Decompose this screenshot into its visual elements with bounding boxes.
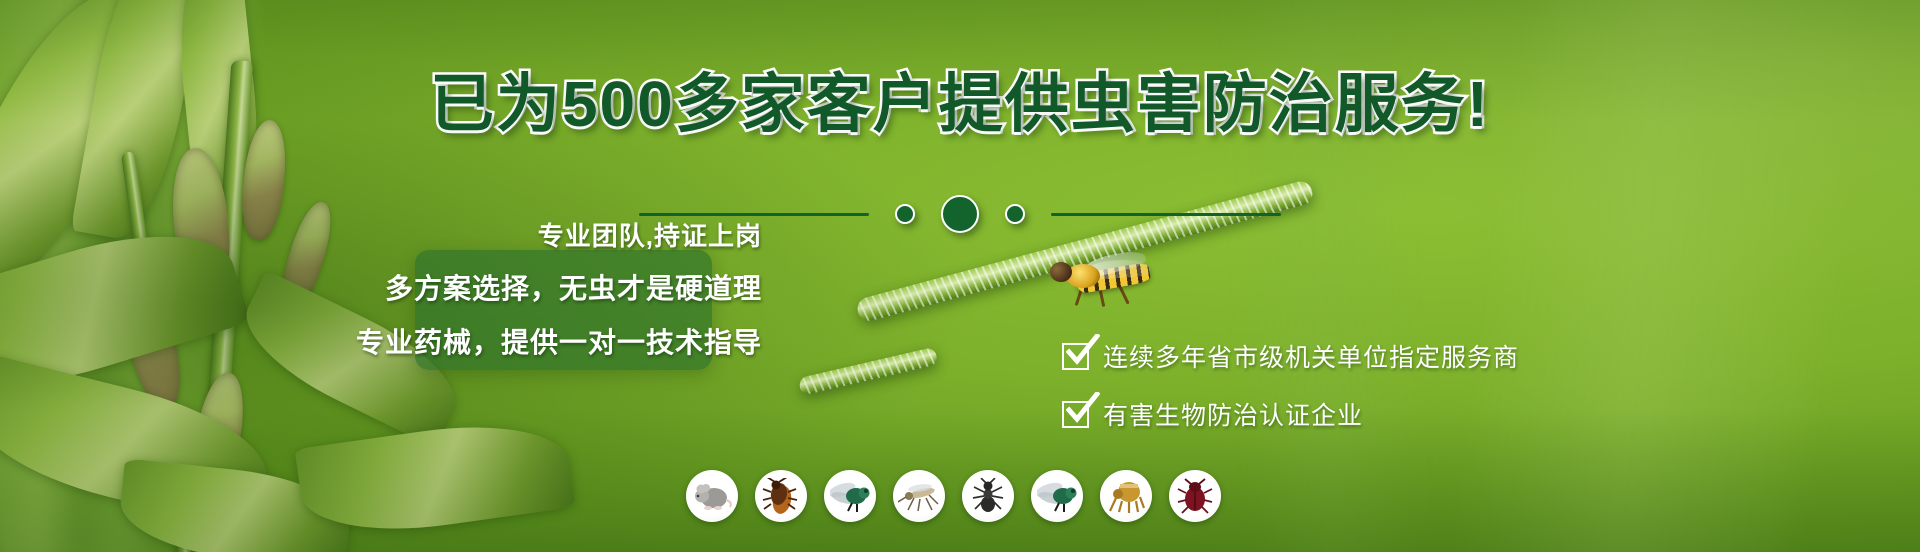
checkbox-checked-icon [1062,343,1089,370]
fly-icon[interactable] [824,470,876,522]
list-item: 连续多年省市级机关单位指定服务商 [1062,338,1519,374]
divider-dot-small-left [895,204,915,224]
checkbox-checked-icon [1062,401,1089,428]
mosquito-icon[interactable] [893,470,945,522]
fly-icon-2[interactable] [1031,470,1083,522]
slogan-list: 专业团队,持证上岗 多方案选择，无虫才是硬道理 专业药械，提供一对一技术指导 [340,216,800,361]
divider-dot-small-right [1005,204,1025,224]
pest-control-hero-banner: 已为500多家客户提供虫害防治服务! 专业团队,持证上岗 多方案选择，无虫才是硬… [0,0,1920,552]
flea-icon[interactable] [1100,470,1152,522]
page-title: 已为500多家客户提供虫害防治服务! [0,72,1920,136]
feature-label: 连续多年省市级机关单位指定服务商 [1103,338,1519,374]
feature-check-list: 连续多年省市级机关单位指定服务商 有害生物防治认证企业 [1062,338,1519,432]
pest-type-icon-row [686,470,1221,522]
slogan-line-1: 专业团队,持证上岗 [538,216,762,253]
slogan-line-2: 多方案选择，无虫才是硬道理 [385,267,762,307]
list-item: 有害生物防治认证企业 [1062,396,1519,432]
decorative-divider [0,196,1920,232]
divider-rule-right [1051,213,1281,216]
cockroach-icon[interactable] [755,470,807,522]
bedbug-icon[interactable] [1169,470,1221,522]
ant-icon[interactable] [962,470,1014,522]
slogan-line-3: 专业药械，提供一对一技术指导 [356,321,762,361]
mouse-icon[interactable] [686,470,738,522]
divider-dot-large [941,195,979,233]
feature-label: 有害生物防治认证企业 [1103,396,1363,432]
